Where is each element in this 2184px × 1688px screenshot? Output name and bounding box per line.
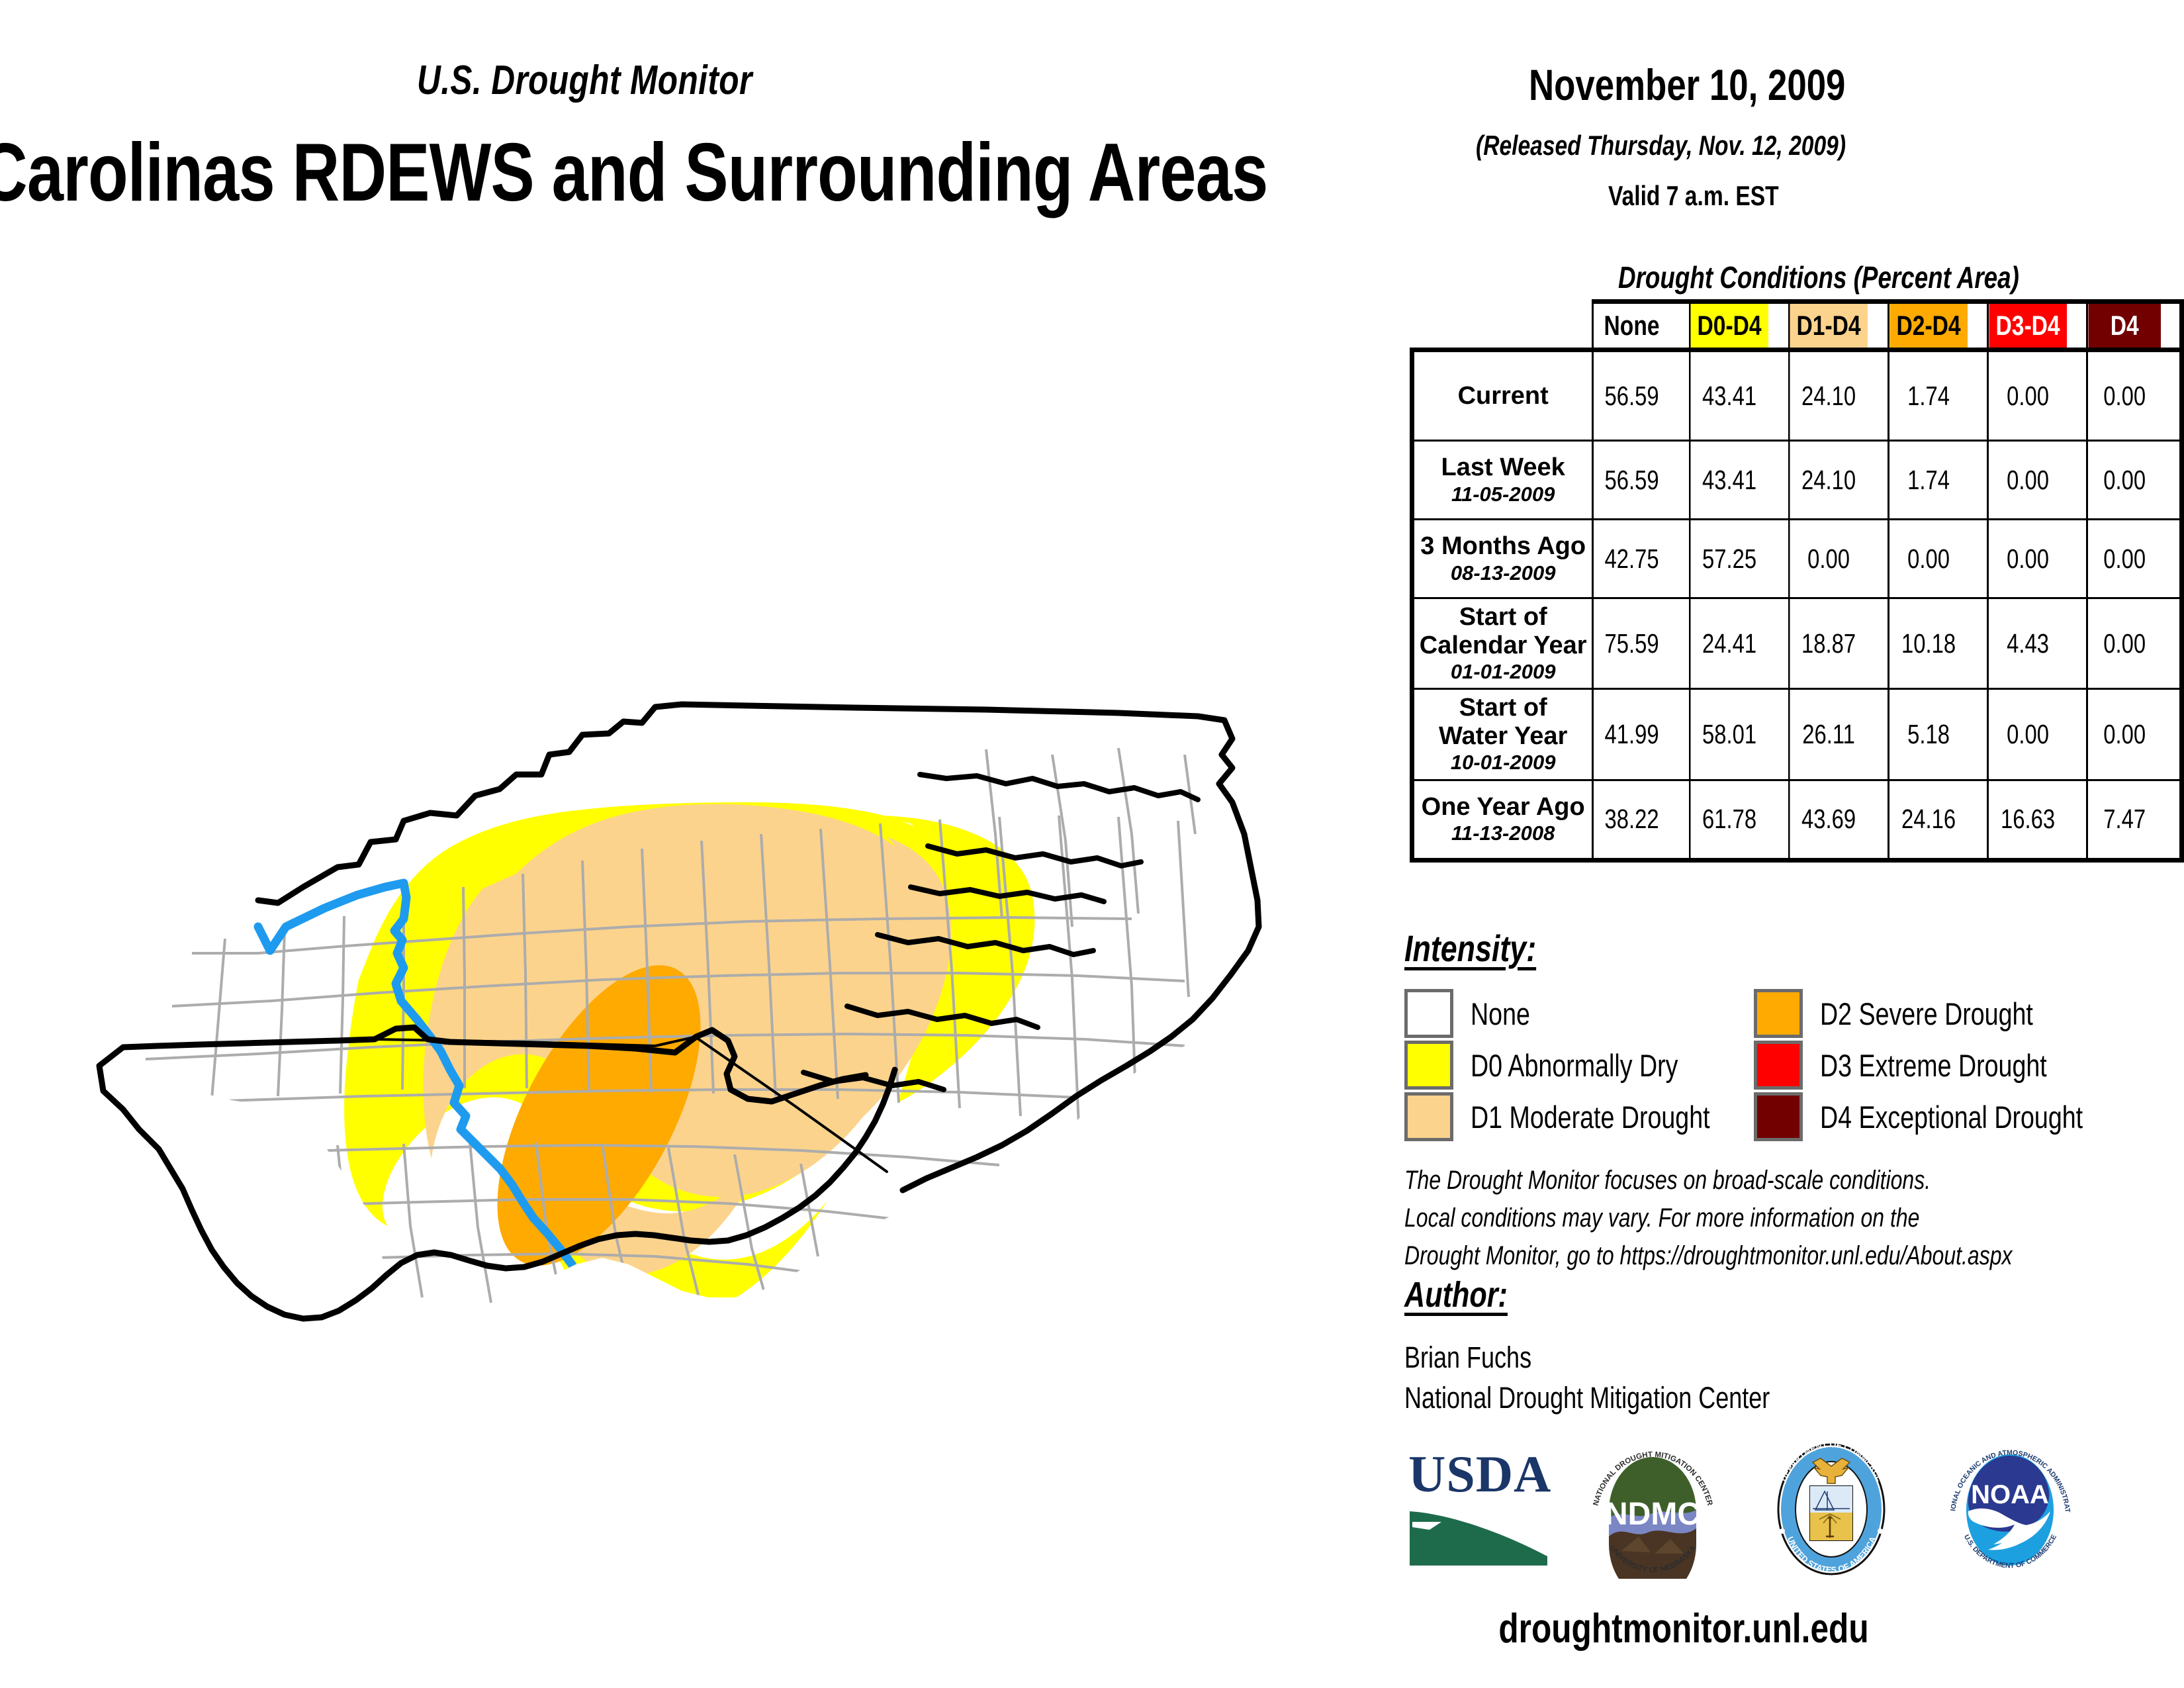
cell-current-d0d4: 43.41 (1690, 350, 1769, 441)
disclaimer-line-1: The Drought Monitor focuses on broad-sca… (1404, 1162, 2012, 1199)
cell-scy-d2d4: 10.18 (1889, 598, 1968, 689)
cell-current-d4: 0.00 (2087, 350, 2163, 441)
cell-current-d3d4: 0.00 (1988, 350, 2068, 441)
cell-swy-d1d4: 26.11 (1789, 689, 1868, 780)
cell-1yr-d2d4: 24.16 (1889, 780, 1968, 860)
usda-logo: USDA (1403, 1440, 1555, 1572)
legend-item-d2: D2 Severe Drought (1754, 989, 2086, 1038)
map-svg (60, 556, 1343, 1383)
col-header-d0d4: D0-D4 (1690, 302, 1769, 350)
disclaimer-line-3: Drought Monitor, go to https://droughtmo… (1404, 1237, 2012, 1275)
legend-label-d2: D2 Severe Drought (1820, 996, 2033, 1032)
cell-last-week-none: 56.59 (1593, 441, 1670, 520)
river-sc-south (159, 1258, 189, 1305)
legend-item-d3: D3 Extreme Drought (1754, 1041, 2103, 1090)
cell-1yr-d3d4: 16.63 (1988, 780, 2068, 860)
cell-current-d2d4: 1.74 (1889, 350, 1968, 441)
table-row-one-year-ago: One Year Ago 11-13-2008 38.22 61.78 43.6… (1412, 780, 2182, 860)
cell-1yr-d0d4: 61.78 (1690, 780, 1769, 860)
legend-label-d0: D0 Abnormally Dry (1471, 1047, 1678, 1084)
cell-current-d1d4: 24.10 (1789, 350, 1868, 441)
legend-label-d3: D3 Extreme Drought (1820, 1047, 2047, 1084)
author-affiliation: National Drought Mitigation Center (1404, 1378, 1770, 1418)
author-name: Brian Fuchs (1404, 1337, 1770, 1378)
legend-item-d0: D0 Abnormally Dry (1404, 1041, 1730, 1090)
cell-swy-d2d4: 5.18 (1889, 689, 1968, 780)
website-url: droughtmonitor.unl.edu (1403, 1605, 1964, 1652)
cell-last-week-d4: 0.00 (2087, 441, 2163, 520)
cell-last-week-d1d4: 24.10 (1789, 441, 1868, 520)
doc-seal-logo: DEPARTMENT OF COMMERCE UNITED STATES OF … (1764, 1440, 1899, 1579)
cell-3mo-d0d4: 57.25 (1690, 520, 1769, 598)
col-header-d4: D4 (2087, 302, 2163, 350)
legend-item-d4: D4 Exceptional Drought (1754, 1092, 2148, 1141)
table-row-3-months-ago: 3 Months Ago 08-13-2009 42.75 57.25 0.00… (1412, 520, 2182, 598)
cell-last-week-d2d4: 1.74 (1889, 441, 1968, 520)
legend-swatch-none (1404, 989, 1453, 1038)
cell-swy-d0d4: 58.01 (1690, 689, 1769, 780)
svg-text:USDA: USDA (1408, 1445, 1551, 1503)
map-date: November 10, 2009 (1529, 60, 1845, 110)
cell-scy-d1d4: 18.87 (1789, 598, 1868, 689)
cell-swy-d3d4: 0.00 (1988, 689, 2068, 780)
legend-swatch-d4 (1754, 1092, 1803, 1141)
legend-title: Intensity: (1404, 927, 1536, 970)
cell-3mo-d1d4: 0.00 (1789, 520, 1868, 598)
cell-1yr-none: 38.22 (1593, 780, 1670, 860)
release-date: (Released Thursday, Nov. 12, 2009) (1476, 130, 1846, 162)
legend-swatch-d2 (1754, 989, 1803, 1038)
col-header-d3d4: D3-D4 (1988, 302, 2068, 350)
legend-swatch-d3 (1754, 1041, 1803, 1090)
legend-item-d1: D1 Moderate Drought (1404, 1092, 1770, 1141)
page-title: Carolinas RDEWS and Surrounding Areas (0, 126, 1267, 220)
drought-map[interactable] (60, 556, 1343, 1383)
row-label-start-calendar-year: Start of Calendar Year 01-01-2009 (1412, 598, 1593, 689)
disclaimer-text: The Drought Monitor focuses on broad-sca… (1404, 1162, 2164, 1274)
svg-text:NOAA: NOAA (1971, 1480, 2049, 1509)
legend-label-d4: D4 Exceptional Drought (1820, 1099, 2083, 1135)
table-header-row: None D0-D4 D1-D4 D2-D4 D3-D4 D4 (1412, 302, 2182, 350)
noaa-logo: NOAA NATIONAL OCEANIC AND ATMOSPHERIC AD… (1939, 1440, 2081, 1579)
cell-last-week-d3d4: 0.00 (1988, 441, 2068, 520)
col-header-d2d4: D2-D4 (1889, 302, 1968, 350)
table-caption: Drought Conditions (Percent Area) (1618, 259, 2019, 295)
legend-swatch-d0 (1404, 1041, 1453, 1090)
cell-current-none: 56.59 (1593, 350, 1670, 441)
cell-3mo-d4: 0.00 (2087, 520, 2163, 598)
legend-swatch-d1 (1404, 1092, 1453, 1141)
cell-swy-d4: 0.00 (2087, 689, 2163, 780)
page-subtitle: U.S. Drought Monitor (417, 57, 752, 104)
cell-3mo-d2d4: 0.00 (1889, 520, 1968, 598)
valid-time: Valid 7 a.m. EST (1608, 180, 1779, 212)
author-title: Author: (1404, 1274, 1508, 1315)
row-label-last-week: Last Week 11-05-2009 (1412, 441, 1593, 520)
table-corner-cell (1412, 302, 1593, 350)
legend-label-none: None (1471, 996, 1530, 1032)
cell-last-week-d0d4: 43.41 (1690, 441, 1769, 520)
table-row-start-calendar-year: Start of Calendar Year 01-01-2009 75.59 … (1412, 598, 2182, 689)
cell-1yr-d1d4: 43.69 (1789, 780, 1868, 860)
legend-label-d1: D1 Moderate Drought (1471, 1099, 1710, 1135)
logo-row: USDA NDMC NATIONAL DROUGHT MITIGATION CE… (1403, 1440, 2105, 1582)
cell-scy-none: 75.59 (1593, 598, 1670, 689)
table-row-last-week: Last Week 11-05-2009 56.59 43.41 24.10 1… (1412, 441, 2182, 520)
drought-conditions-table: None D0-D4 D1-D4 D2-D4 D3-D4 D4 Current … (1410, 299, 2184, 863)
disclaimer-line-2: Local conditions may vary. For more info… (1404, 1199, 2012, 1237)
cell-scy-d0d4: 24.41 (1690, 598, 1769, 689)
row-label-current: Current (1412, 350, 1593, 441)
legend-item-none: None (1404, 989, 1545, 1038)
cell-3mo-none: 42.75 (1593, 520, 1670, 598)
ndmc-logo: NDMC NATIONAL DROUGHT MITIGATION CENTER … (1582, 1440, 1724, 1579)
row-label-start-water-year: Start of Water Year 10-01-2009 (1412, 689, 1593, 780)
cell-scy-d3d4: 4.43 (1988, 598, 2068, 689)
svg-text:NDMC: NDMC (1605, 1497, 1700, 1532)
col-header-d1d4: D1-D4 (1789, 302, 1868, 350)
cell-3mo-d3d4: 0.00 (1988, 520, 2068, 598)
author-block: Brian Fuchs National Drought Mitigation … (1404, 1337, 1861, 1418)
table-row-current: Current 56.59 43.41 24.10 1.74 0.00 0.00 (1412, 350, 2182, 441)
cell-scy-d4: 0.00 (2087, 598, 2163, 689)
table-row-start-water-year: Start of Water Year 10-01-2009 41.99 58.… (1412, 689, 2182, 780)
col-header-none: None (1593, 302, 1670, 350)
cell-swy-none: 41.99 (1593, 689, 1670, 780)
row-label-one-year-ago: One Year Ago 11-13-2008 (1412, 780, 1593, 860)
cell-1yr-d4: 7.47 (2087, 780, 2163, 860)
row-label-3-months-ago: 3 Months Ago 08-13-2009 (1412, 520, 1593, 598)
